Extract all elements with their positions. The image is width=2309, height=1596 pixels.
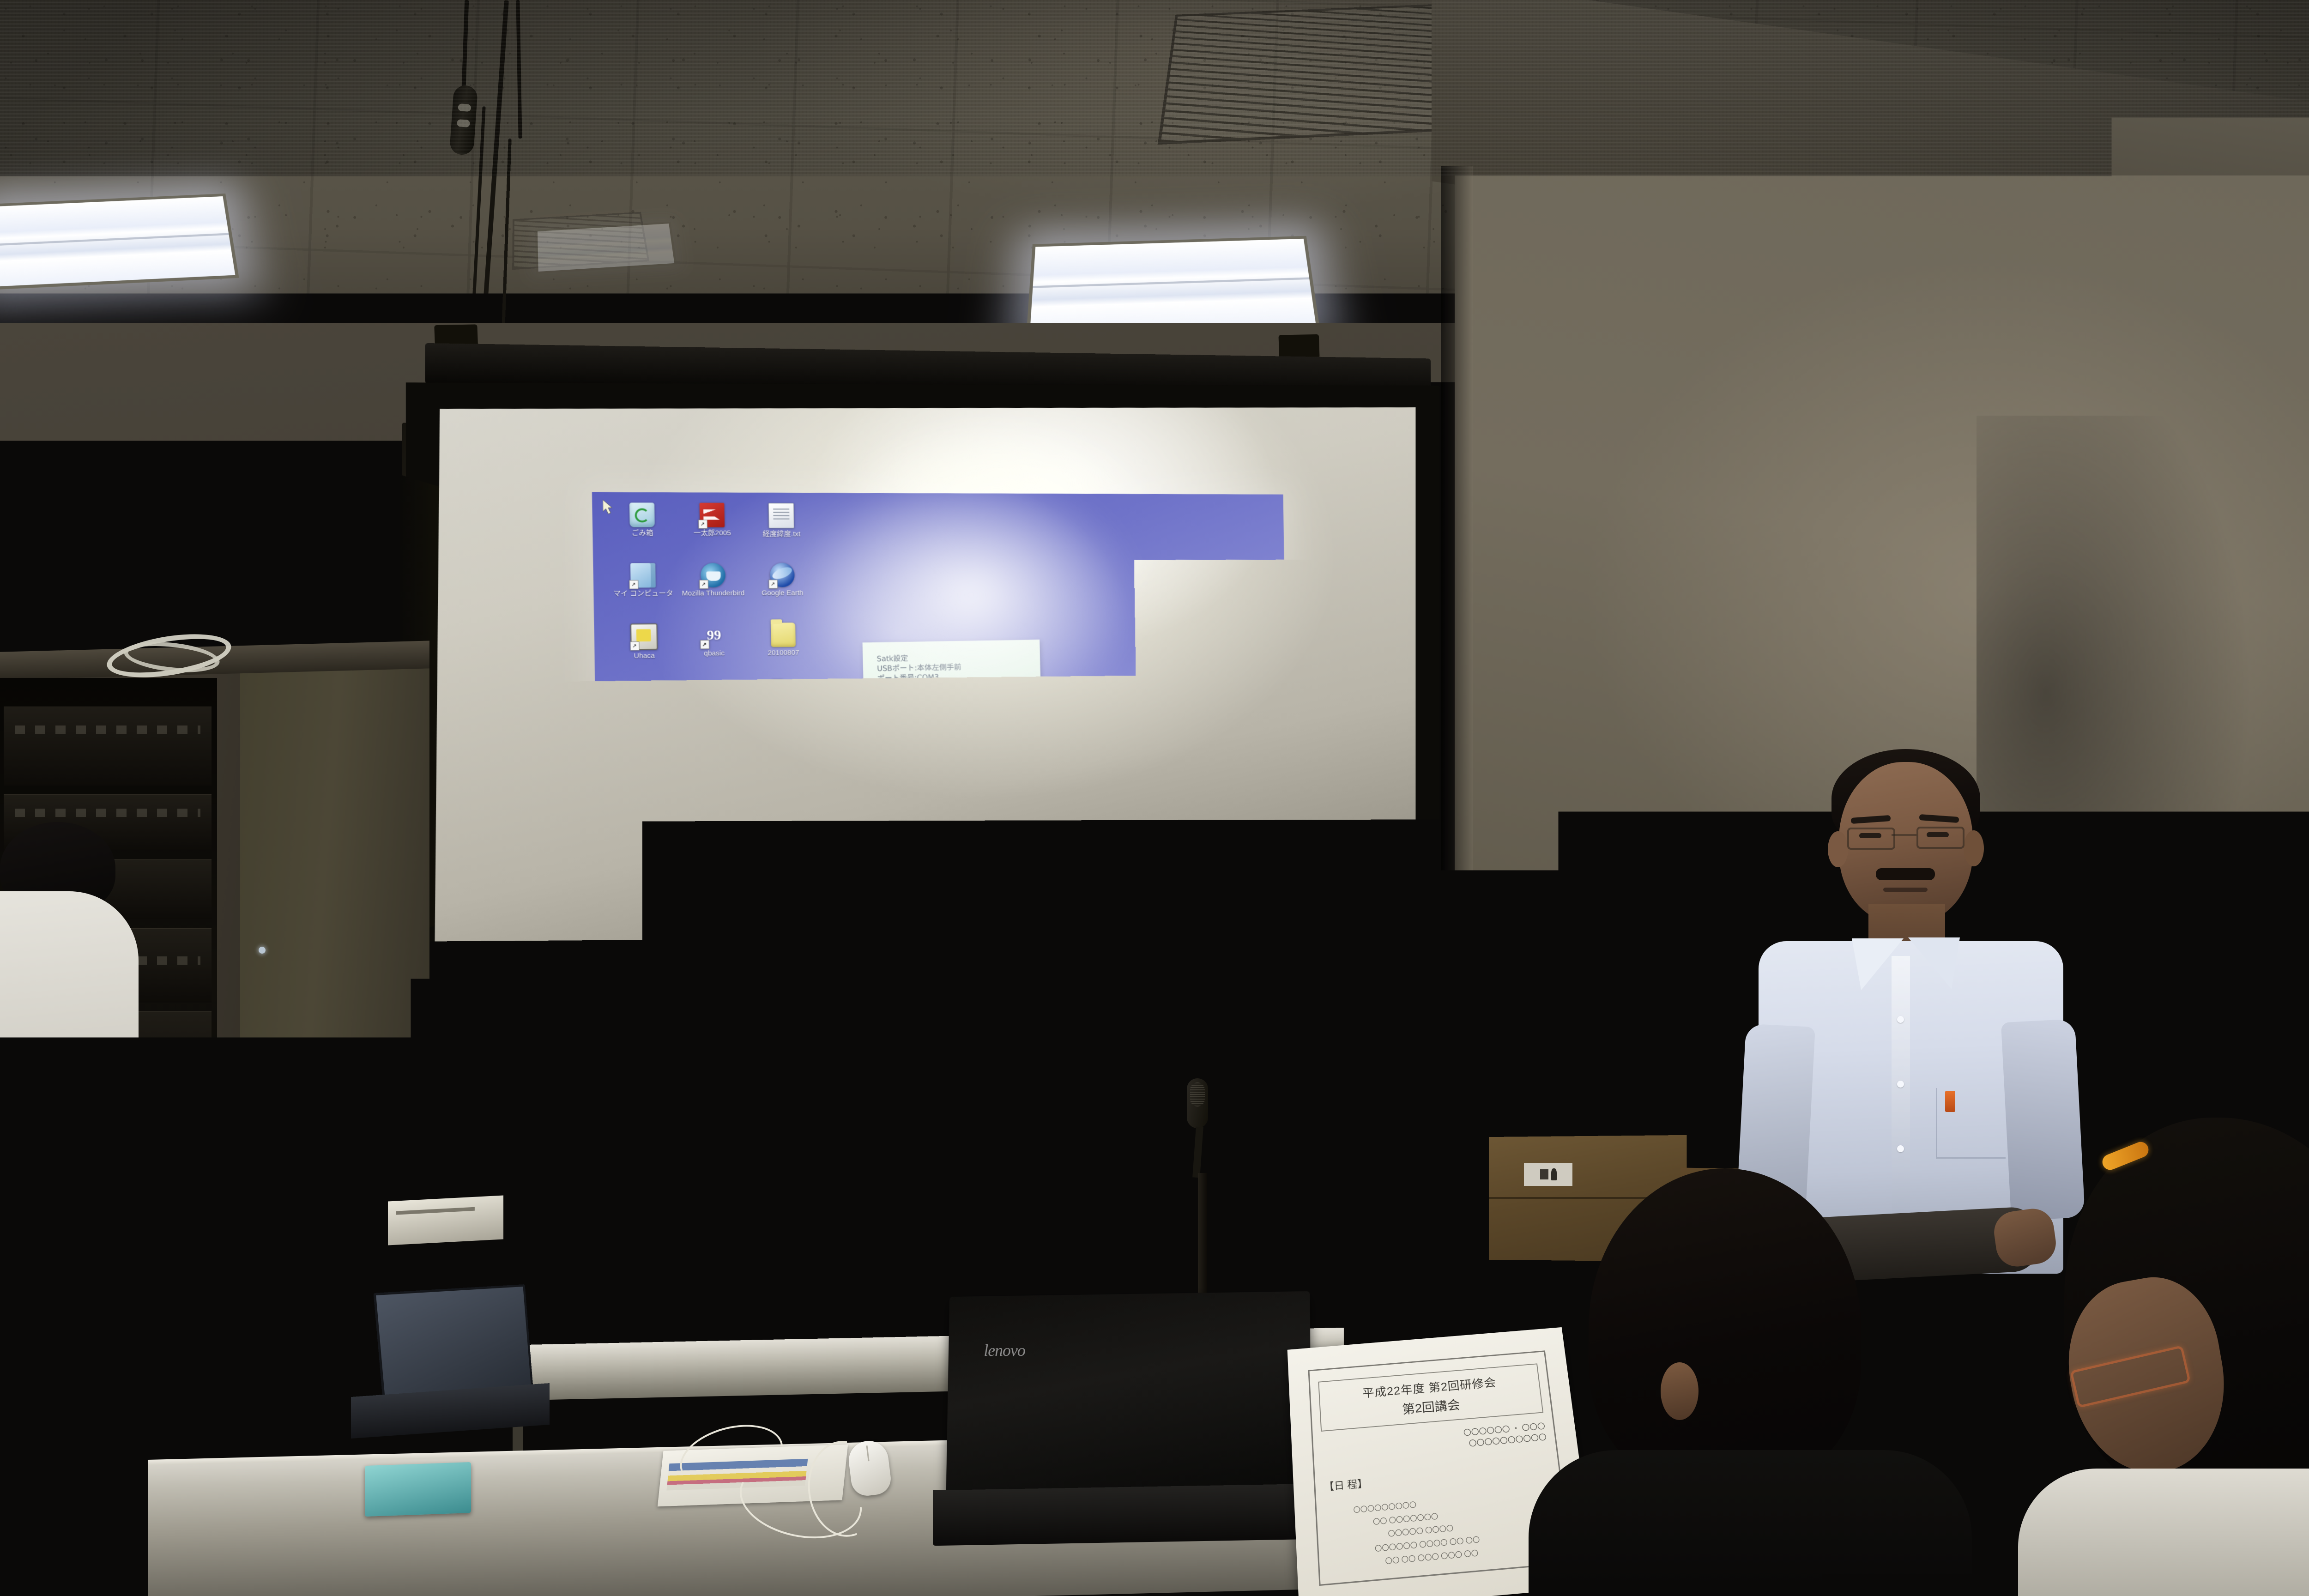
desktop-icon[interactable]: GPS bbox=[611, 802, 683, 864]
attendee-right-shoulders bbox=[2018, 1469, 2309, 1596]
desktop-icon-empty bbox=[753, 919, 823, 981]
desktop-icon[interactable]: ↗Uhaca bbox=[609, 622, 680, 683]
desktop-icon[interactable]: ↗Google Earth bbox=[748, 561, 817, 621]
shortcut-arrow-icon: ↗ bbox=[702, 702, 708, 708]
lenovo-laptop-base[interactable] bbox=[933, 1484, 1316, 1546]
inline-cable-connector bbox=[449, 85, 478, 155]
start-button[interactable]: スタート bbox=[600, 984, 673, 1008]
desktop-icon-label: GPS bbox=[640, 832, 655, 840]
adobe-reader-icon: ↗ bbox=[632, 684, 658, 709]
folder-icon bbox=[634, 804, 659, 829]
bluetooth-icon[interactable] bbox=[1262, 971, 1271, 980]
taskbar-orphan-icon[interactable] bbox=[1199, 972, 1208, 984]
shortcut-arrow-icon: ↗ bbox=[699, 521, 706, 527]
shortcut-arrow-icon: ↗ bbox=[700, 582, 707, 588]
this-side-up-icon bbox=[1551, 1168, 1557, 1180]
shortcut-arrow-icon: ↗ bbox=[631, 643, 638, 649]
desktop-icon-label: HAYABUSA bbox=[697, 770, 735, 778]
presenter-ear bbox=[1828, 831, 1848, 867]
rack-door-handle[interactable] bbox=[259, 947, 266, 954]
shirt-button bbox=[1897, 1081, 1904, 1088]
shortcut-arrow-icon: ↗ bbox=[636, 945, 642, 951]
desktop-icon-label: 20100807 bbox=[768, 649, 799, 657]
desktop-icon[interactable]: ↗Satk bbox=[683, 921, 754, 983]
desktop-icon-label: Microsoft Office Exc... bbox=[682, 711, 749, 727]
ime-language-bar[interactable]: あ般 ー あ 般 カ ロ KA ? ⋮ bbox=[1183, 945, 1281, 961]
desktop-icon-label: PCマニュアル等 bbox=[622, 891, 675, 901]
desktop-icon-label: DATA bbox=[708, 830, 726, 838]
google-earth-icon: ↗ bbox=[770, 563, 795, 587]
glasses-lens-right bbox=[1916, 827, 1964, 849]
shelf-binder bbox=[323, 1129, 344, 1207]
taskbar-item-label: Microsoft PowerPoint bbox=[920, 981, 981, 991]
help-icon[interactable]: ? bbox=[1257, 948, 1264, 956]
desktop-icon[interactable]: ↗TimeTune bbox=[683, 861, 753, 923]
desktop-icon[interactable]: ↗マイ コンピュータ bbox=[608, 561, 679, 622]
presenter-mustache bbox=[1876, 868, 1935, 880]
white-equipment-box bbox=[388, 1195, 503, 1245]
recycle-bin-icon bbox=[629, 502, 655, 527]
desktop-icon-grid[interactable]: ごみ箱↗一太郎2005経度緯度.txt↗マイ コンピュータ↗Mozilla Th… bbox=[607, 501, 825, 1008]
shortcut-arrow-icon: ↗ bbox=[770, 581, 776, 587]
attendee-left bbox=[0, 822, 157, 1422]
start-button-label: スタート bbox=[619, 990, 652, 1003]
desktop-icon[interactable]: ↗Mozilla Thunderbird bbox=[678, 561, 749, 622]
excel-icon: ↗ bbox=[702, 683, 728, 709]
ceiling-light-panel-middle bbox=[535, 222, 677, 274]
taskbar-item-folder-shigoto[interactable]: 仕事 bbox=[677, 983, 787, 1003]
handout-section-heading: 【日 程】 bbox=[1324, 1460, 1551, 1494]
taskbar-item-powerpoint[interactable]: Microsoft PowerPoint bbox=[903, 975, 1036, 995]
desktop-icon-label: 一太郎2005 bbox=[694, 530, 731, 538]
timetune-icon: ↗ bbox=[705, 863, 730, 888]
desktop-icon[interactable]: 20100807 bbox=[749, 621, 818, 681]
desktop-icon-label: Google Earth bbox=[762, 589, 804, 597]
folder-icon bbox=[683, 990, 692, 999]
desktop-icon-label: 経度緯度.txt bbox=[762, 531, 800, 538]
desktop-icon-label: マイ コンピュータ bbox=[613, 590, 673, 598]
attendee-foreground-ear bbox=[1661, 1362, 1699, 1420]
presenter-mouth bbox=[1883, 888, 1928, 892]
meeting-room-scene: ごみ箱↗一太郎2005経度緯度.txt↗マイ コンピュータ↗Mozilla Th… bbox=[0, 0, 2309, 1596]
uhaca-icon: ↗ bbox=[630, 623, 658, 650]
presenter-eye bbox=[1927, 832, 1949, 837]
presenter-ear bbox=[1964, 830, 1984, 866]
ime-kana-button[interactable]: KA bbox=[1246, 948, 1254, 956]
desktop-icon-label: Mozilla Thunderbird bbox=[682, 590, 744, 598]
desktop-icon-label: プレゼン bbox=[770, 709, 799, 717]
shirt-button bbox=[1897, 1145, 1904, 1152]
attendee-left-body bbox=[0, 891, 139, 1390]
desktop-icon[interactable]: HAYABUSA bbox=[681, 741, 751, 802]
desktop-icon-label: Skype bbox=[639, 952, 659, 961]
desktop-icon[interactable]: プレゼン bbox=[750, 680, 819, 741]
taskbar-spacer bbox=[1036, 978, 1199, 983]
shirt-button bbox=[1897, 1016, 1904, 1023]
desktop-icon-label: MiniCDU.exe bbox=[625, 774, 667, 782]
desktop-icon-empty bbox=[751, 799, 821, 861]
folder-icon bbox=[635, 865, 660, 890]
desktop-icon-label: ごみ箱 bbox=[631, 530, 653, 538]
minicdu-icon: ↗ bbox=[632, 744, 660, 772]
screen-mount-bracket-right bbox=[1278, 334, 1319, 359]
light-pane bbox=[538, 224, 674, 272]
folder-icon bbox=[704, 803, 729, 828]
projected-windows-desktop[interactable]: ごみ箱↗一太郎2005経度緯度.txt↗マイ コンピュータ↗Mozilla Th… bbox=[592, 492, 1291, 1009]
my-computer-icon: ↗ bbox=[630, 563, 656, 587]
lenovo-logo: lenovo bbox=[984, 1341, 1025, 1360]
shortcut-arrow-icon: ↗ bbox=[633, 765, 640, 771]
ichitaro-2005-icon: ↗ bbox=[700, 503, 725, 527]
rack-vent-slots bbox=[15, 809, 200, 817]
memo-footer: USBポート使用は2個まで bbox=[880, 774, 1032, 791]
desktop-icon[interactable]: ↗一太郎2005 bbox=[677, 501, 748, 562]
powerpoint-icon bbox=[908, 983, 917, 992]
pocket-pen bbox=[1945, 1091, 1955, 1112]
ime-mode-chip[interactable]: あ般 bbox=[1185, 949, 1201, 959]
ime-button[interactable]: 般 bbox=[1220, 949, 1228, 957]
overflow-menu-icon[interactable]: ⋮ bbox=[1268, 947, 1275, 955]
microphone-head bbox=[1187, 1078, 1208, 1128]
attendee-foreground-shoulders bbox=[1529, 1450, 1972, 1596]
desktop-icon-label: Satk bbox=[712, 953, 726, 961]
projection-screen-assembly: ごみ箱↗一太郎2005経度緯度.txt↗マイ コンピュータ↗Mozilla Th… bbox=[406, 357, 1449, 1158]
desktop-icon[interactable]: ↗Adobe Reader 9 bbox=[610, 682, 681, 743]
ime-button[interactable]: カ bbox=[1229, 949, 1237, 957]
ime-button[interactable]: ロ bbox=[1238, 948, 1245, 956]
light-pane bbox=[1030, 239, 1316, 335]
desktop-icon[interactable]: 確認.txt bbox=[750, 740, 820, 801]
rack-vent-slots bbox=[15, 725, 200, 734]
desktop-icon-empty bbox=[752, 859, 822, 921]
system-tray[interactable] bbox=[1214, 964, 1290, 987]
folder-icon bbox=[796, 986, 805, 996]
safely-remove-icon[interactable] bbox=[1275, 970, 1284, 980]
attendee-foreground bbox=[1570, 1164, 1893, 1596]
attendee-foreground-hair bbox=[1589, 1168, 1861, 1487]
desktop-icon[interactable]: ↗Microsoft Office Exc... bbox=[680, 681, 750, 742]
shortcut-arrow-icon: ↗ bbox=[632, 703, 639, 709]
desktop-icon-label: qbasic bbox=[704, 650, 725, 658]
desktop-icon[interactable]: PCマニュアル等 bbox=[612, 863, 683, 925]
desktop-icon-label: 確認.txt bbox=[774, 770, 797, 778]
shelf-binder bbox=[343, 1133, 369, 1208]
taskbar-item-folder-presen[interactable]: プレゼン bbox=[791, 979, 899, 999]
box-handling-label bbox=[1524, 1163, 1572, 1186]
shelf-binder bbox=[293, 1122, 325, 1206]
fragile-icon bbox=[1540, 1169, 1548, 1179]
satk-icon: ↗ bbox=[705, 923, 733, 951]
attendee-right bbox=[2032, 1118, 2309, 1596]
desktop-icon[interactable]: DATA bbox=[682, 801, 752, 862]
desktop-icon-label: Adobe Reader 9 bbox=[619, 711, 671, 719]
ime-separator bbox=[1266, 948, 1266, 956]
desktop-icon[interactable]: ↗Skype bbox=[613, 923, 684, 985]
satk-settings-memo[interactable]: Satk設定 USBポート:本体左側手前 ポート番号:COM3 受信機:その他 … bbox=[863, 640, 1043, 782]
shirt-placket bbox=[1892, 956, 1910, 1251]
ime-button[interactable]: ー bbox=[1203, 949, 1210, 957]
desktop-icon[interactable]: ↗MiniCDU.exe bbox=[610, 742, 682, 804]
windows-flag-icon bbox=[605, 992, 616, 1003]
ime-button[interactable]: あ bbox=[1211, 949, 1219, 957]
volume-icon[interactable] bbox=[1248, 971, 1257, 981]
network-icon[interactable] bbox=[1221, 972, 1230, 981]
desktop-icon[interactable]: 99↗qbasic bbox=[679, 621, 750, 682]
mouse-cursor-icon bbox=[603, 500, 616, 516]
teal-storage-box bbox=[365, 1462, 471, 1517]
ceiling-light-panel-left bbox=[0, 193, 239, 290]
shortcut-arrow-icon: ↗ bbox=[705, 883, 712, 889]
folder-icon bbox=[771, 623, 796, 647]
taskbar-item-label: 仕事 bbox=[696, 989, 709, 999]
ime-separator bbox=[1256, 948, 1256, 956]
antivirus-icon[interactable] bbox=[1234, 971, 1244, 981]
shortcut-arrow-icon: ↗ bbox=[706, 944, 713, 950]
folder-icon bbox=[772, 683, 797, 707]
presenter-eye bbox=[1859, 833, 1881, 838]
rack-unit bbox=[4, 707, 212, 786]
desktop-icon[interactable]: 経度緯度.txt bbox=[747, 501, 816, 561]
ceiling-light-panel-right bbox=[1026, 236, 1320, 338]
skype-icon: ↗ bbox=[636, 925, 662, 950]
desktop-icon-label: TimeTune bbox=[702, 890, 734, 898]
glasses-lens-left bbox=[1847, 828, 1895, 850]
shortcut-arrow-icon: ↗ bbox=[630, 582, 637, 588]
thunderbird-icon: ↗ bbox=[701, 563, 726, 587]
desktop-icon-label: Uhaca bbox=[634, 652, 655, 660]
glasses-bridge bbox=[1892, 834, 1916, 836]
text-file-icon bbox=[772, 742, 798, 768]
taskbar-item-label: プレゼン bbox=[809, 985, 835, 995]
screen-surface: ごみ箱↗一太郎2005経度緯度.txt↗マイ コンピュータ↗Mozilla Th… bbox=[434, 394, 1415, 1062]
shortcut-arrow-icon: ↗ bbox=[701, 642, 707, 648]
desktop-icon[interactable]: ごみ箱 bbox=[607, 501, 678, 561]
qbasic-icon: 99↗ bbox=[701, 623, 727, 647]
folder-icon bbox=[703, 743, 728, 768]
text-file-icon bbox=[768, 503, 794, 528]
